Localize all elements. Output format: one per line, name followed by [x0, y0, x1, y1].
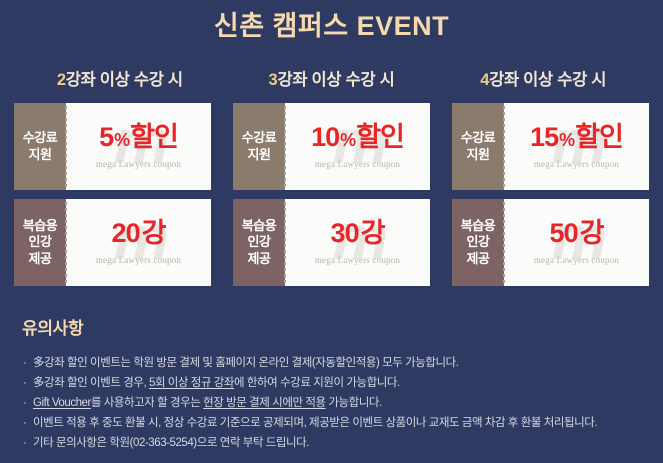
coupon-value: 30강	[331, 220, 385, 247]
coupon-body: m 30강 mega Lawyers coupon	[285, 199, 430, 286]
coupon-amount: 15	[530, 124, 558, 151]
coupon-body: m 10%할인 mega Lawyers coupon	[285, 103, 430, 190]
notes-list: 多강좌 할인 이벤트는 학원 방문 결제 및 홈페이지 온라인 결제(자동할인적…	[22, 353, 641, 453]
coupon-tab-label: 복습용 인강 제공	[452, 199, 504, 286]
coupon-row-tuition-support: 수강료 지원 m 5%할인 mega Lawyers coupon 수강료 지원…	[14, 103, 649, 190]
coupon-amount: 20	[112, 220, 140, 247]
coupon-amount: 50	[550, 220, 578, 247]
notes-heading: 유의사항	[22, 314, 641, 339]
coupon-value: 15%할인	[530, 124, 623, 151]
coupon-row-review-lectures: 복습용 인강 제공 m 20강 mega Lawyers coupon 복습용 …	[14, 199, 649, 286]
tier-header-row: 2강좌 이상 수강 시 3강좌 이상 수강 시 4강좌 이상 수강 시	[0, 66, 663, 90]
coupon-card: 수강료 지원 m 15%할인 mega Lawyers coupon	[452, 103, 649, 190]
event-banner: 신촌 캠퍼스 EVENT 2강좌 이상 수강 시 3강좌 이상 수강 시 4강좌…	[0, 0, 663, 463]
note-item: 多강좌 할인 이벤트는 학원 방문 결제 및 홈페이지 온라인 결제(자동할인적…	[22, 353, 641, 373]
coupon-suffix: 할인	[575, 124, 623, 151]
coupon-caption: mega Lawyers coupon	[315, 255, 400, 265]
coupon-value: 10%할인	[311, 124, 404, 151]
coupon-value: 20강	[112, 220, 166, 247]
coupon-value: 5%할인	[99, 124, 178, 151]
tier-label-1: 강좌 이상 수강 시	[277, 71, 394, 89]
tier-header-0: 2강좌 이상 수강 시	[14, 66, 226, 90]
coupon-card: 수강료 지원 m 5%할인 mega Lawyers coupon	[14, 103, 211, 190]
coupon-card: 수강료 지원 m 10%할인 mega Lawyers coupon	[233, 103, 430, 190]
coupon-percent-sign: %	[114, 131, 129, 149]
coupon-caption: mega Lawyers coupon	[534, 159, 619, 169]
coupon-amount: 30	[331, 220, 359, 247]
note-item: 이벤트 적용 후 중도 환불 시, 정상 수강료 기준으로 공제되며, 제공받은…	[22, 413, 641, 433]
coupon-tab-label: 수강료 지원	[233, 103, 285, 190]
coupon-caption: mega Lawyers coupon	[534, 255, 619, 265]
coupon-amount: 5	[99, 124, 113, 151]
coupon-percent-sign: %	[340, 131, 355, 149]
coupon-card: 복습용 인강 제공 m 20강 mega Lawyers coupon	[14, 199, 211, 286]
coupon-suffix: 할인	[356, 124, 404, 151]
coupon-caption: mega Lawyers coupon	[96, 159, 181, 169]
coupon-suffix: 할인	[130, 124, 178, 151]
coupon-grid: 수강료 지원 m 5%할인 mega Lawyers coupon 수강료 지원…	[0, 103, 663, 286]
banner-title-bar: 신촌 캠퍼스 EVENT	[0, 0, 663, 44]
tier-label-2: 강좌 이상 수강 시	[489, 71, 606, 89]
note-item: 多강좌 할인 이벤트 경우, 5회 이상 정규 강좌에 한하여 수강료 지원이 …	[22, 373, 641, 393]
note-item: Gift Voucher를 사용하고자 할 경우는 현장 방문 결제 시에만 적…	[22, 393, 641, 413]
tier-header-2: 4강좌 이상 수강 시	[437, 66, 649, 90]
coupon-tab-label: 복습용 인강 제공	[233, 199, 285, 286]
coupon-amount: 10	[311, 124, 339, 151]
tier-count-0: 2	[57, 71, 66, 89]
coupon-card: 복습용 인강 제공 m 30강 mega Lawyers coupon	[233, 199, 430, 286]
coupon-tab-label: 복습용 인강 제공	[14, 199, 66, 286]
tier-label-0: 강좌 이상 수강 시	[66, 71, 183, 89]
tier-count-2: 4	[480, 71, 489, 89]
note-item: 기타 문의사항은 학원(02-363-5254)으로 연락 부탁 드립니다.	[22, 433, 641, 453]
coupon-suffix: 강	[142, 220, 166, 247]
page-title: 신촌 캠퍼스 EVENT	[214, 13, 449, 40]
coupon-suffix: 강	[580, 220, 604, 247]
coupon-body: m 5%할인 mega Lawyers coupon	[66, 103, 211, 190]
coupon-suffix: 강	[361, 220, 385, 247]
coupon-body: m 50강 mega Lawyers coupon	[504, 199, 649, 286]
coupon-tab-label: 수강료 지원	[452, 103, 504, 190]
coupon-value: 50강	[550, 220, 604, 247]
coupon-caption: mega Lawyers coupon	[96, 255, 181, 265]
notes-section: 유의사항 多강좌 할인 이벤트는 학원 방문 결제 및 홈페이지 온라인 결제(…	[0, 314, 663, 453]
coupon-percent-sign: %	[559, 131, 574, 149]
coupon-tab-label: 수강료 지원	[14, 103, 66, 190]
coupon-body: m 20강 mega Lawyers coupon	[66, 199, 211, 286]
coupon-caption: mega Lawyers coupon	[315, 159, 400, 169]
coupon-card: 복습용 인강 제공 m 50강 mega Lawyers coupon	[452, 199, 649, 286]
coupon-body: m 15%할인 mega Lawyers coupon	[504, 103, 649, 190]
tier-header-1: 3강좌 이상 수강 시	[226, 66, 438, 90]
